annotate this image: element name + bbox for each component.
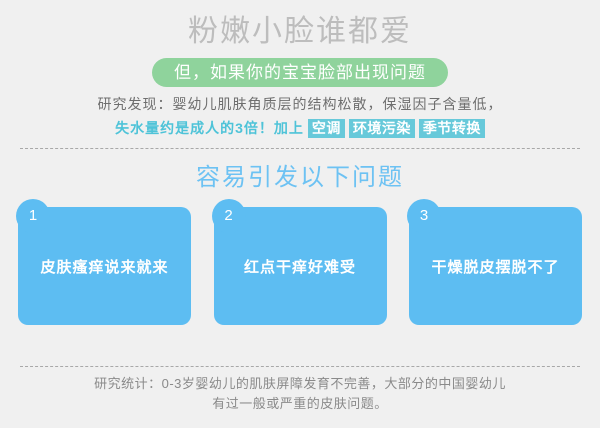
problem-card-2: 2 红点干痒好难受: [214, 207, 387, 325]
problem-card-list: 1 皮肤瘙痒说来就来 2 红点干痒好难受 3 干燥脱皮摆脱不了: [18, 207, 582, 325]
divider-top: [20, 148, 580, 149]
water-loss-line: 失水量约是成人的3倍！加上 空调 环境污染 季节转换: [0, 117, 600, 139]
page-title: 粉嫩小脸谁都爱: [0, 12, 600, 54]
water-loss-text: 失水量约是成人的3倍！加上: [115, 117, 304, 139]
footer-statistics: 研究统计：0-3岁婴幼儿的肌肤屏障发育不完善，大部分的中国婴幼儿 有过一般或严重…: [0, 374, 600, 414]
divider-bottom: [20, 366, 580, 367]
section-title: 容易引发以下问题: [0, 163, 600, 193]
research-finding-text: 研究发现：婴幼儿肌肤角质层的结构松散，保湿因子含量低，: [0, 94, 600, 114]
headline-pill-wrapper: 但，如果你的宝宝脸部出现问题: [0, 56, 600, 88]
card-label: 红点干痒好难受: [214, 207, 387, 325]
footer-line-2: 有过一般或严重的皮肤问题。: [0, 394, 600, 414]
factor-tag-season-change: 季节转换: [419, 119, 485, 138]
card-label: 皮肤瘙痒说来就来: [18, 207, 191, 325]
factor-tag-air-conditioning: 空调: [308, 119, 345, 138]
footer-line-1: 研究统计：0-3岁婴幼儿的肌肤屏障发育不完善，大部分的中国婴幼儿: [0, 374, 600, 394]
hero-section: 粉嫩小脸谁都爱 但，如果你的宝宝脸部出现问题 研究发现：婴幼儿肌肤角质层的结构松…: [0, 0, 600, 139]
factor-tag-pollution: 环境污染: [349, 119, 415, 138]
promo-page: 粉嫩小脸谁都爱 但，如果你的宝宝脸部出现问题 研究发现：婴幼儿肌肤角质层的结构松…: [0, 0, 600, 428]
problem-card-3: 3 干燥脱皮摆脱不了: [409, 207, 582, 325]
problem-card-1: 1 皮肤瘙痒说来就来: [18, 207, 191, 325]
headline-pill: 但，如果你的宝宝脸部出现问题: [152, 58, 448, 87]
card-label: 干燥脱皮摆脱不了: [409, 207, 582, 325]
